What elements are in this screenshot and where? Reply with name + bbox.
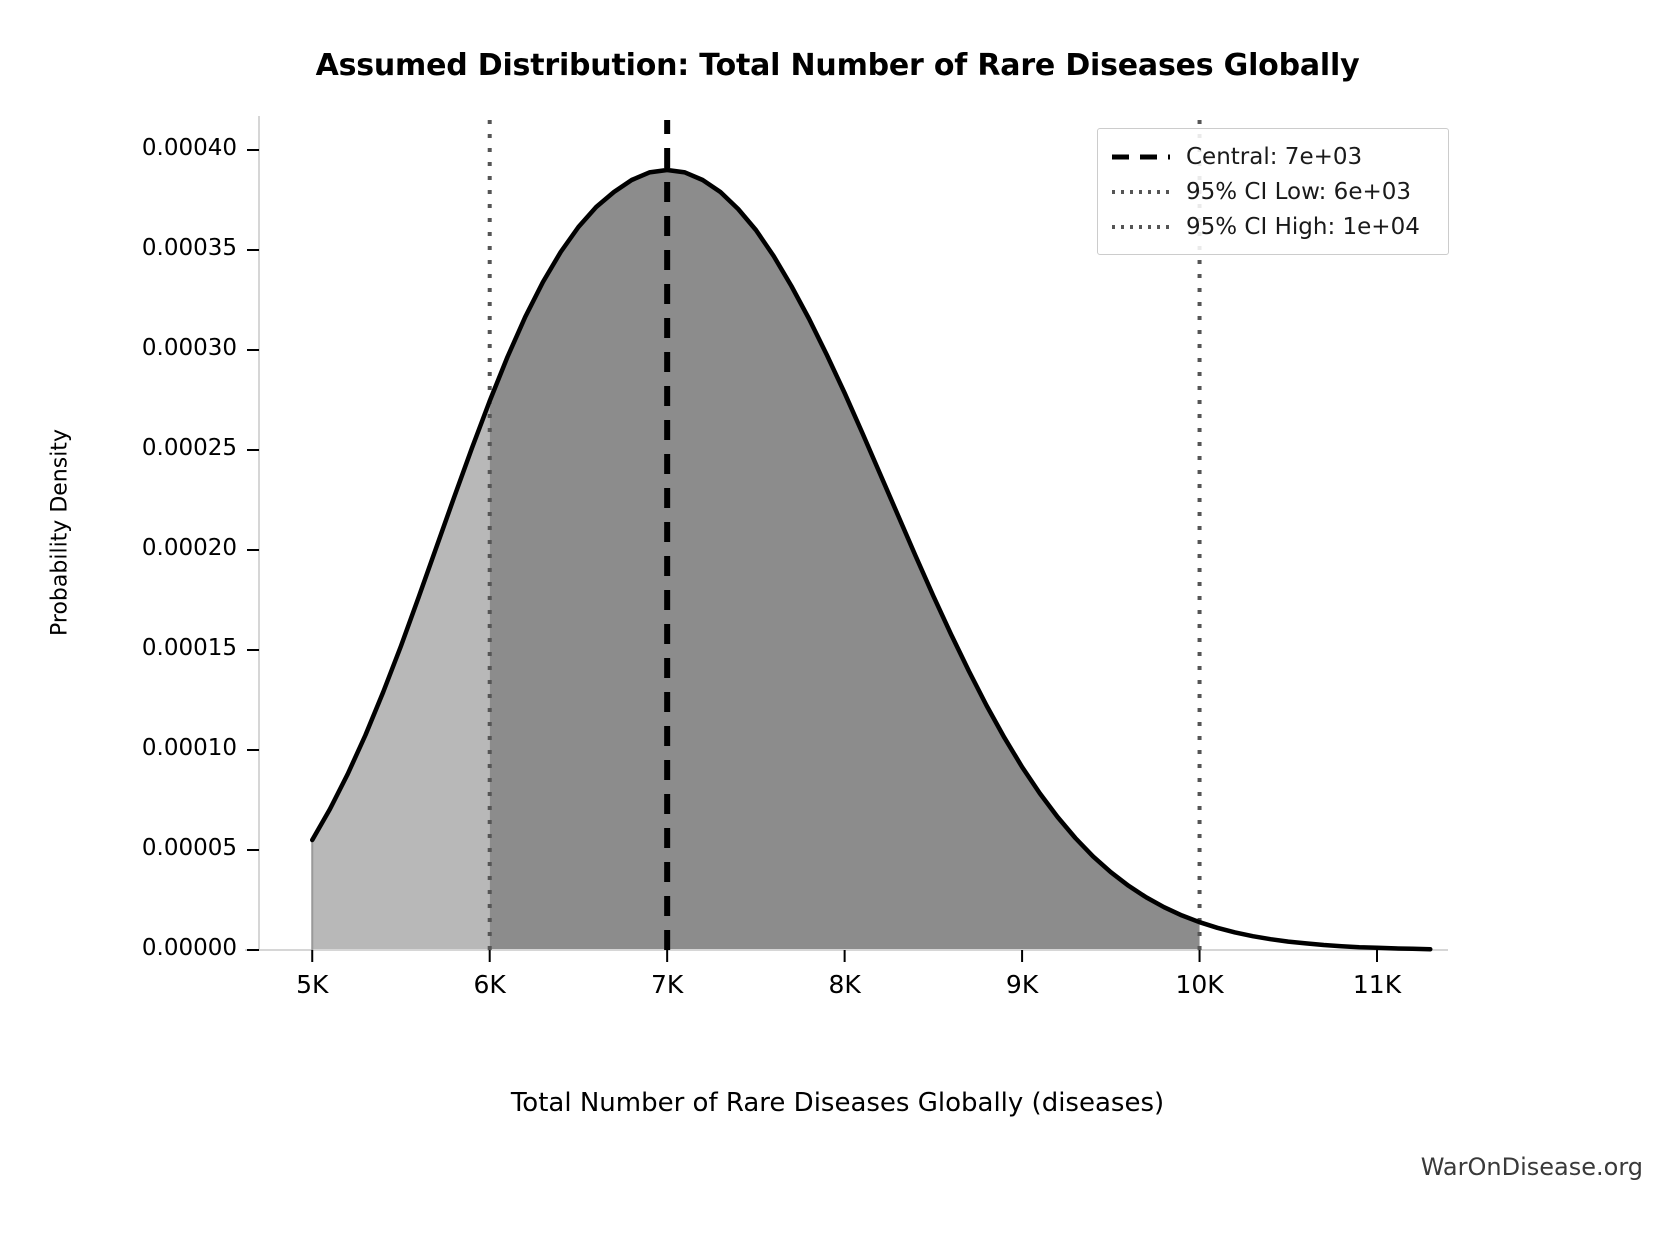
x-tick-label: 10K (1140, 970, 1260, 999)
legend-item-central: Central: 7e+03 (1110, 139, 1436, 174)
legend-item-ci-high: 95% CI High: 1e+04 (1110, 209, 1436, 244)
legend-label-central: Central: 7e+03 (1186, 144, 1362, 170)
y-tick-label: 0.00025 (9, 435, 237, 461)
dashed-line-swatch-icon (1110, 147, 1172, 167)
figure-canvas: Assumed Distribution: Total Number of Ra… (0, 0, 1675, 1234)
y-tick-label: 0.00000 (9, 935, 237, 961)
y-tick-label: 0.00030 (9, 335, 237, 361)
x-tick-label: 7K (607, 970, 727, 999)
x-axis-label: Total Number of Rare Diseases Globally (… (0, 1088, 1675, 1118)
y-tick-label: 0.00035 (9, 235, 237, 261)
x-tick-label: 11K (1317, 970, 1437, 999)
footer-credit: WarOnDisease.org (1421, 1153, 1643, 1181)
y-tick-label: 0.00005 (9, 835, 237, 861)
y-tick-label: 0.00015 (9, 635, 237, 661)
dotted-line-swatch-icon (1110, 182, 1172, 202)
x-tick-label: 9K (962, 970, 1082, 999)
x-tick-label: 8K (785, 970, 905, 999)
inside-ci-fill (490, 170, 1200, 950)
dotted-line-swatch-icon (1110, 217, 1172, 237)
legend-label-ci-low: 95% CI Low: 6e+03 (1186, 179, 1411, 205)
y-tick-label: 0.00040 (9, 135, 237, 161)
y-tick-label: 0.00010 (9, 735, 237, 761)
x-tick-label: 6K (430, 970, 550, 999)
x-tick-label: 5K (252, 970, 372, 999)
legend-label-ci-high: 95% CI High: 1e+04 (1186, 214, 1420, 240)
y-tick-label: 0.00020 (9, 535, 237, 561)
legend-item-ci-low: 95% CI Low: 6e+03 (1110, 174, 1436, 209)
chart-legend: Central: 7e+03 95% CI Low: 6e+03 95% CI … (1097, 128, 1449, 255)
outside-ci-fill (312, 401, 489, 950)
